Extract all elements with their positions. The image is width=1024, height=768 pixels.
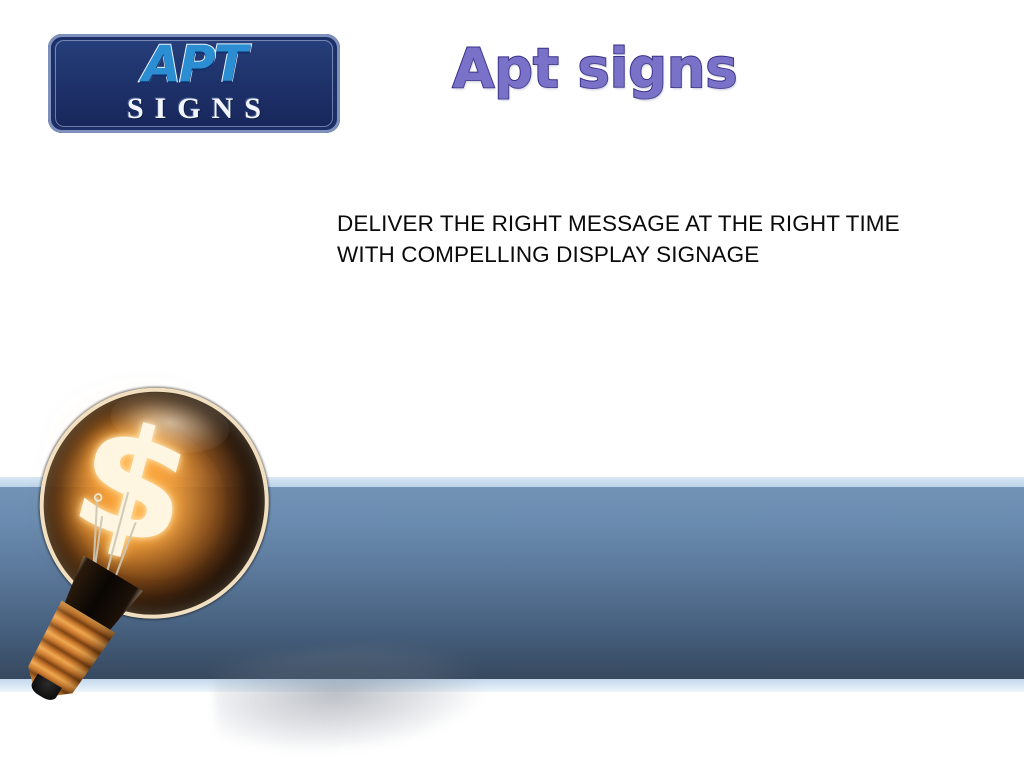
apt-signs-logo: APT SIGNS (48, 34, 340, 133)
body-text-line-1: DELIVER THE RIGHT MESSAGE AT THE RIGHT T… (337, 208, 997, 239)
page-title: Apt signs (430, 42, 760, 96)
bulb-rotation-group: $ (0, 333, 412, 768)
logo-apt-text: APT (48, 38, 340, 91)
filament-support-wires (0, 333, 412, 768)
body-text-line-2: WITH COMPELLING DISPLAY SIGNAGE (337, 239, 997, 270)
dollar-sign-light-bulb-image: $ (30, 388, 380, 740)
body-text: DELIVER THE RIGHT MESSAGE AT THE RIGHT T… (337, 208, 997, 270)
presentation-slide: APT SIGNS Apt signs DELIVER THE RIGHT ME… (0, 0, 1024, 768)
logo-signs-text: SIGNS (48, 92, 340, 126)
